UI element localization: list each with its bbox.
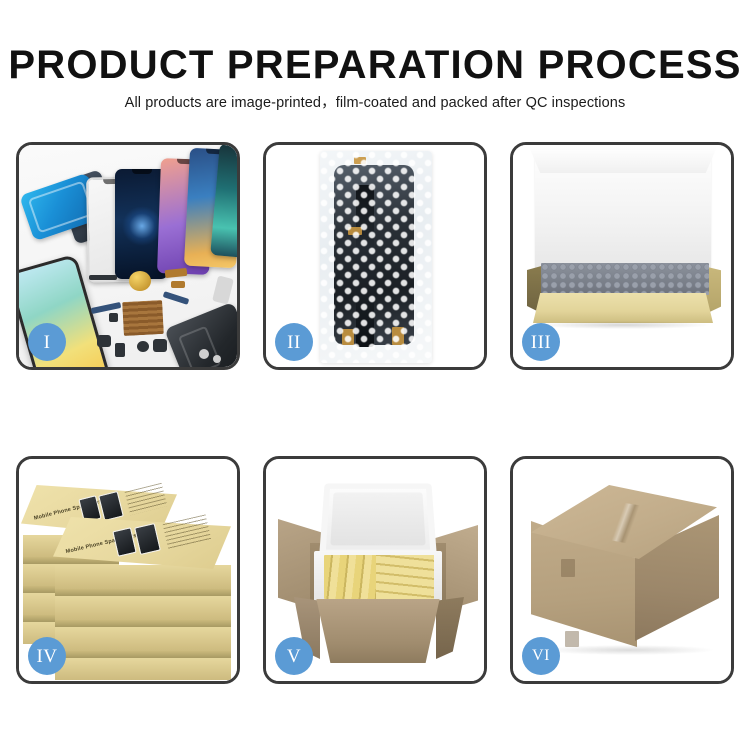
bubble-texture-icon	[320, 151, 432, 363]
connector-icon	[171, 281, 185, 288]
bubble-wrap-package	[320, 151, 432, 363]
notch-icon	[132, 169, 152, 174]
drop-shadow	[543, 645, 713, 655]
step-badge-5: V	[275, 637, 313, 675]
foam-lid-icon	[319, 483, 437, 556]
step-panel-5: V	[263, 456, 487, 684]
page-subtitle: All products are image-printed，film-coat…	[0, 91, 750, 112]
stacked-box-edge	[55, 658, 231, 680]
step-panel-6: VI	[510, 456, 734, 684]
step-panel-4: Mobile Phone Spare Parts Mobile Phone Sp…	[16, 456, 240, 684]
step-badge-6: VI	[522, 637, 560, 675]
step-3-image: III	[513, 145, 731, 367]
stacked-box-shadow	[55, 589, 231, 596]
small-part-icon	[153, 339, 167, 352]
page-title: PRODUCT PREPARATION PROCESS	[0, 45, 750, 85]
step-2-image: II	[266, 145, 484, 367]
step-badge-3: III	[522, 323, 560, 361]
product-preparation-infographic: PRODUCT PREPARATION PROCESS All products…	[0, 0, 750, 750]
small-part-icon	[109, 313, 118, 322]
packed-boxes-icon	[376, 555, 434, 599]
step-panel-3: III	[510, 142, 734, 370]
carton-front-icon	[308, 599, 448, 663]
small-part-icon	[97, 335, 111, 347]
stacked-box-shadow	[55, 620, 231, 627]
stacked-box-edge	[55, 565, 231, 589]
step-panel-1: I	[16, 142, 240, 370]
logic-board-icon	[122, 300, 164, 336]
screw-icon	[199, 349, 209, 359]
step-4-image: Mobile Phone Spare Parts Mobile Phone Sp…	[19, 459, 237, 681]
small-part-icon	[137, 341, 149, 352]
carton-side-right-icon	[436, 597, 464, 659]
small-part-icon	[115, 343, 125, 357]
box-lid-icon	[535, 157, 711, 275]
small-part-icon	[89, 275, 117, 280]
carton-tab-icon	[561, 559, 575, 577]
bubble-wrap-filler-icon	[541, 263, 709, 295]
box-lid-flap-icon	[529, 147, 717, 173]
box-front-icon	[533, 293, 713, 323]
notch-icon	[232, 145, 237, 151]
step-6-image: VI	[513, 459, 731, 681]
speaker-module-icon	[129, 271, 151, 291]
step-badge-2: II	[275, 323, 313, 361]
drop-shadow	[537, 321, 709, 329]
stacked-box-edge	[55, 627, 231, 651]
step-5-image: V	[266, 459, 484, 681]
stacked-box-edge	[55, 596, 231, 620]
step-badge-1: I	[28, 323, 66, 361]
process-steps-grid: I II	[16, 142, 734, 684]
step-1-image: I	[19, 145, 237, 367]
stacked-box-shadow	[55, 651, 231, 658]
step-panel-2: II	[263, 142, 487, 370]
step-badge-4: IV	[28, 637, 66, 675]
screw-icon	[213, 355, 221, 363]
